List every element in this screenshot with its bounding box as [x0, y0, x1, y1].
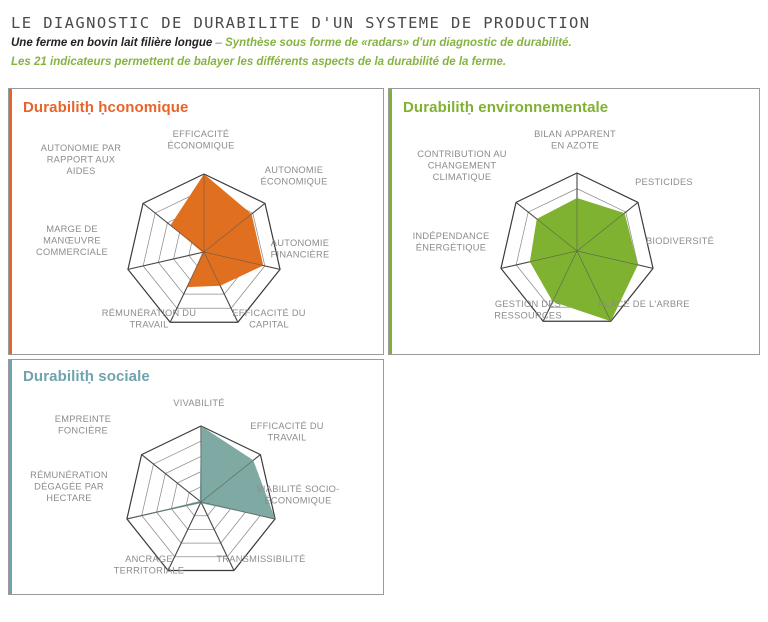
radar-axis-label: AUTONOMIEFINANCIÈRE [271, 238, 330, 260]
radar-axis-label: GESTION DESRESSOURCES [494, 299, 562, 321]
radar-axis-label: VIABILITÉ SOCIO-ÉCONOMIQUE [256, 484, 339, 506]
radar-chart-economic: EFFICACITÉÉCONOMIQUEAUTONOMIEÉCONOMIQUEA… [9, 89, 383, 354]
radar-axis-label: RÉMUNÉRATION DUTRAVAIL [102, 308, 196, 330]
panel-social: Durabilitḥ sociale VIVABILITÉEFFICACITÉ … [8, 359, 384, 595]
radar-axis-label: ANCRAGETERRITORIALE [114, 554, 185, 576]
page-header: LE DIAGNOSTIC DE DURABILITE D'UN SYSTEME… [8, 8, 760, 70]
radar-axis-label: EFFICACITÉ DUCAPITAL [232, 308, 306, 330]
subtitle-farm-type: Une ferme en bovin lait filière longue [11, 37, 212, 49]
subtitle-line-1: Une ferme en bovin lait filière longue –… [11, 36, 760, 51]
subtitle-line-2: Les 21 indicateurs permettent de balayer… [11, 55, 760, 70]
subtitle-description: Synthèse sous forme de «radars» d'un dia… [225, 37, 572, 49]
radar-axis-label: PESTICIDES [635, 177, 693, 187]
radar-axis-label: AUTONOMIE PARRAPPORT AUXAIDES [41, 143, 121, 176]
radar-axis-label: INDÉPENDANCEÉNERGÉTIQUE [413, 231, 490, 253]
radar-axis-label: PLACE DE L'ARBRE [598, 299, 690, 309]
radar-axis-label: AUTONOMIEÉCONOMIQUE [260, 165, 327, 187]
subtitle-indicators: Les 21 indicateurs permettent de balayer… [11, 56, 506, 68]
radar-chart-environmental: BILAN APPARENTEN AZOTEPESTICIDESBIODIVER… [389, 89, 759, 354]
radar-axis-label: EFFICACITÉ DUTRAVAIL [250, 421, 324, 443]
radar-axis-label: BIODIVERSITÉ [646, 236, 714, 246]
radar-axis-label: TRANSMISSIBILITÉ [216, 554, 305, 564]
radar-axis-label: BILAN APPARENTEN AZOTE [534, 129, 616, 151]
radar-axis-label: RÉMUNÉRATIONDÉGAGÉE PARHECTARE [30, 470, 108, 503]
radar-axis-label: EFFICACITÉÉCONOMIQUE [167, 129, 234, 151]
panel-environmental: Durabilitḥ environnementale BILAN APPARE… [388, 88, 760, 355]
panel-economic: Durabilitḥ ḥconomique EFFICACITÉÉCONOMIQ… [8, 88, 384, 355]
radar-axis-label: VIVABILITÉ [173, 398, 224, 408]
radar-axis-label: EMPREINTEFONCIÈRE [55, 414, 112, 436]
subtitle-separator: – [212, 37, 225, 49]
radar-axis-label: MARGE DEMANŒUVRECOMMERCIALE [36, 224, 108, 257]
page-title: LE DIAGNOSTIC DE DURABILITE D'UN SYSTEME… [11, 14, 760, 32]
radar-chart-social: VIVABILITÉEFFICACITÉ DUTRAVAILVIABILITÉ … [9, 360, 383, 594]
radar-axis-label: CONTRIBUTION AUCHANGEMENTCLIMATIQUE [417, 149, 507, 182]
